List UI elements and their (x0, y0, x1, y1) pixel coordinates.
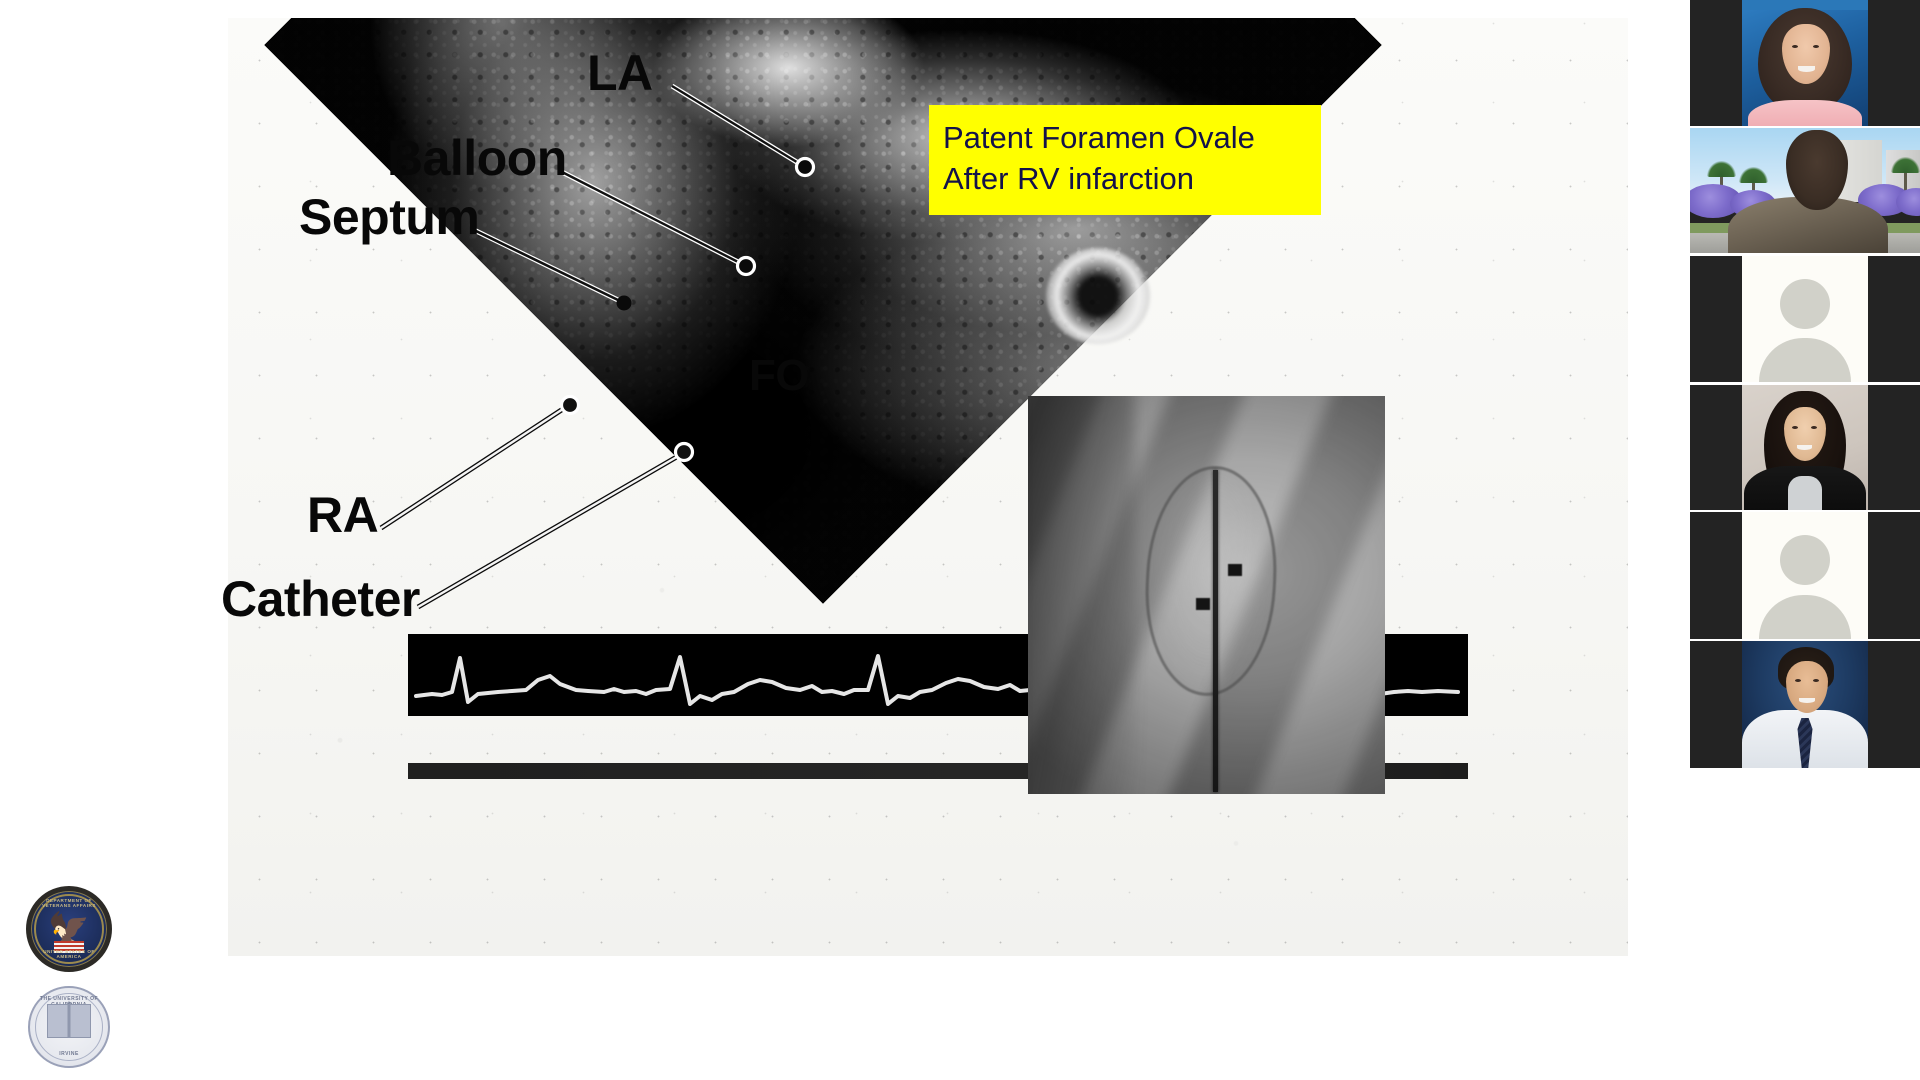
fluoroscopy-radiopaque-marker (1196, 598, 1210, 610)
fluoroscopy-dark-region (1028, 396, 1135, 794)
participant-avatar-3 (1742, 256, 1868, 382)
mouth (1797, 445, 1812, 450)
participant-tile-6[interactable] (1690, 641, 1920, 768)
shared-slide[interactable]: LA Balloon Septum FO RA Catheter Patent … (0, 0, 1690, 1080)
participant-video-1 (1742, 0, 1868, 126)
participant-video-6 (1742, 641, 1868, 768)
person-blouse (1788, 476, 1822, 510)
avatar-icon (1759, 595, 1851, 639)
annotation-label-ra: RA (307, 490, 378, 540)
participant-tile-5[interactable] (1690, 512, 1920, 639)
annotation-label-fo: FO (749, 354, 809, 398)
eye (1792, 45, 1798, 48)
participant-tile-2[interactable] (1690, 128, 1920, 253)
eye (1813, 45, 1819, 48)
annotation-label-catheter: Catheter (221, 574, 420, 624)
va-seal-top-text: DEPARTMENT OF VETERANS AFFAIRS (31, 898, 107, 908)
avatar-icon (1759, 338, 1851, 382)
eye (1813, 679, 1819, 682)
annotation-label-septum: Septum (299, 192, 479, 242)
person-top (1748, 100, 1862, 126)
avatar-icon (1780, 535, 1830, 585)
annotation-label-balloon: Balloon (387, 133, 567, 183)
participant-tile-1[interactable] (1690, 0, 1920, 126)
mouth (1798, 66, 1815, 72)
participant-tile-4[interactable] (1690, 385, 1920, 510)
eye (1795, 679, 1801, 682)
participant-tile-3[interactable] (1690, 256, 1920, 382)
avatar-card (1742, 256, 1868, 382)
mouth (1799, 698, 1815, 703)
uci-seal-bottom-text: IRVINE (30, 1051, 108, 1057)
callout-line-1: Patent Foramen Ovale (943, 117, 1307, 158)
participant-strip (1690, 0, 1920, 1080)
participant-video-2 (1690, 128, 1920, 253)
eye (1811, 426, 1817, 429)
balloon-echo-shadow (1046, 248, 1150, 344)
fluoroscopy-catheter-shaft (1213, 470, 1218, 792)
open-book-icon (47, 1004, 91, 1038)
fluoroscopy-inset-image (1028, 396, 1385, 794)
eye (1792, 426, 1798, 429)
slide-callout-box: Patent Foramen Ovale After RV infarction (929, 105, 1321, 215)
institution-logos: DEPARTMENT OF VETERANS AFFAIRS 🦅 UNITED … (14, 886, 130, 1068)
va-seal-logo: DEPARTMENT OF VETERANS AFFAIRS 🦅 UNITED … (26, 886, 112, 972)
participant-video-4 (1742, 385, 1868, 510)
callout-line-2: After RV infarction (943, 158, 1307, 199)
screen-share-stage: LA Balloon Septum FO RA Catheter Patent … (0, 0, 1920, 1080)
annotation-label-la: LA (587, 48, 653, 98)
fluoroscopy-radiopaque-marker (1228, 564, 1242, 576)
uci-seal-logo: ✦ THE UNIVERSITY OF CALIFORNIA IRVINE (28, 986, 110, 1068)
avatar-icon (1780, 279, 1830, 329)
va-seal-bottom-text: UNITED STATES OF AMERICA (31, 949, 107, 959)
avatar-card (1742, 512, 1868, 639)
participant-avatar-5 (1742, 512, 1868, 639)
